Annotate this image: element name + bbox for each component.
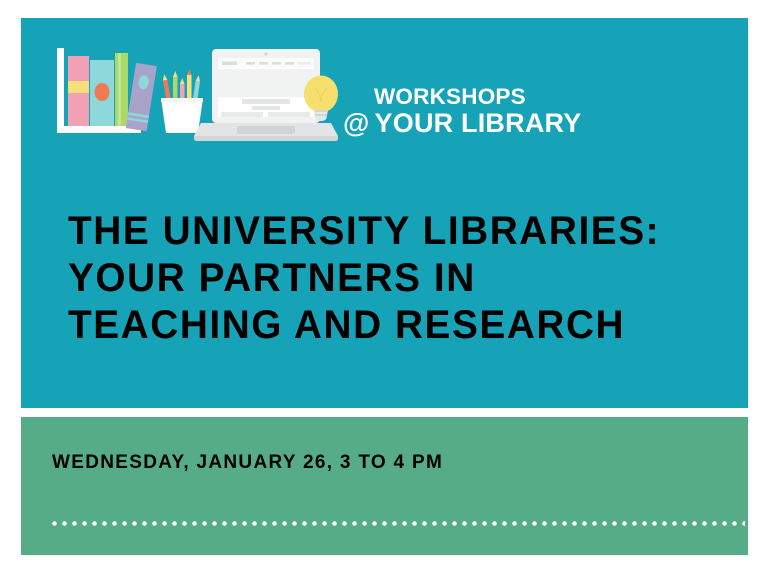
event-datetime-text: WEDNESDAY, JANUARY 26, 3 TO 4 PM: [52, 452, 443, 474]
title-line-1: THE UNIVERSITY LIBRARIES:: [68, 208, 728, 255]
page-title: THE UNIVERSITY LIBRARIES: YOUR PARTNERS …: [68, 208, 728, 349]
at-symbol: @: [343, 110, 370, 137]
logo-wordmark: WORKSHOPS @YOUR LIBRARY: [343, 86, 623, 148]
wordmark-line-your-library: @YOUR LIBRARY: [343, 110, 623, 137]
footer-green-panel: WEDNESDAY, JANUARY 26, 3 TO 4 PM: [21, 417, 748, 555]
books-icon: [68, 53, 157, 131]
dotted-divider: [52, 521, 745, 526]
wordmark-your-library-text: YOUR LIBRARY: [375, 108, 582, 138]
title-line-2: YOUR PARTNERS IN: [68, 255, 728, 302]
slide-canvas: WORKSHOPS @YOUR LIBRARY THE UNIVERSITY L…: [0, 0, 768, 571]
pencil-cup-icon: [161, 69, 203, 133]
wordmark-line-workshops: WORKSHOPS: [374, 86, 623, 109]
logo-illustration: [49, 36, 339, 148]
workshops-logo-lockup: WORKSHOPS @YOUR LIBRARY: [49, 36, 619, 148]
hero-teal-panel: WORKSHOPS @YOUR LIBRARY THE UNIVERSITY L…: [21, 18, 748, 408]
title-line-3: TEACHING AND RESEARCH: [68, 302, 728, 349]
